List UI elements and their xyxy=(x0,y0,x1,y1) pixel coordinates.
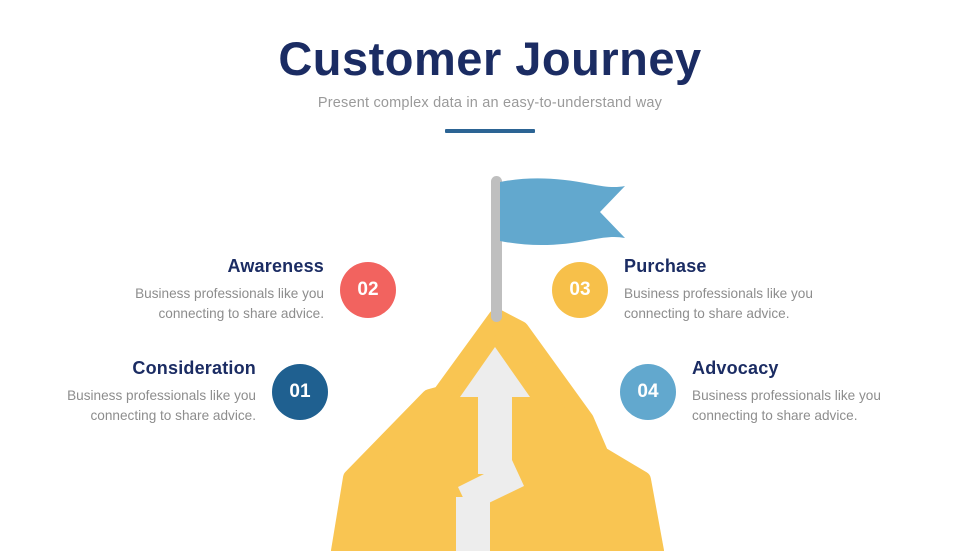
step-advocacy[interactable]: 04 Advocacy Business professionals like … xyxy=(620,358,912,427)
step-purchase-text: Purchase Business professionals like you… xyxy=(624,256,844,325)
step-awareness-badge[interactable]: 02 xyxy=(340,262,396,318)
step-awareness-title: Awareness xyxy=(104,256,324,277)
title-accent-bar xyxy=(445,129,535,133)
step-advocacy-title: Advocacy xyxy=(692,358,912,379)
step-consideration-text: Consideration Business professionals lik… xyxy=(36,358,256,427)
page-title: Customer Journey xyxy=(0,34,980,83)
upward-arrow-path xyxy=(456,347,530,551)
step-advocacy-text: Advocacy Business professionals like you… xyxy=(692,358,912,427)
mountain-shape xyxy=(340,318,655,551)
step-consideration-badge[interactable]: 01 xyxy=(272,364,328,420)
slide-canvas: Customer Journey Present complex data in… xyxy=(0,0,980,551)
summit-flag xyxy=(500,178,625,245)
slide-header: Customer Journey Present complex data in… xyxy=(0,34,980,133)
step-awareness-desc: Business professionals like you connecti… xyxy=(104,284,324,325)
step-awareness-text: Awareness Business professionals like yo… xyxy=(104,256,324,325)
step-advocacy-desc: Business professionals like you connecti… xyxy=(692,386,912,427)
step-consideration-title: Consideration xyxy=(36,358,256,379)
step-awareness[interactable]: Awareness Business professionals like yo… xyxy=(104,256,396,325)
step-advocacy-badge[interactable]: 04 xyxy=(620,364,676,420)
step-consideration[interactable]: Consideration Business professionals lik… xyxy=(36,358,328,427)
flag-pole xyxy=(491,176,502,322)
step-purchase[interactable]: 03 Purchase Business professionals like … xyxy=(552,256,844,325)
step-purchase-title: Purchase xyxy=(624,256,844,277)
step-purchase-desc: Business professionals like you connecti… xyxy=(624,284,844,325)
step-purchase-badge[interactable]: 03 xyxy=(552,262,608,318)
page-subtitle: Present complex data in an easy-to-under… xyxy=(0,95,980,111)
step-consideration-desc: Business professionals like you connecti… xyxy=(36,386,256,427)
